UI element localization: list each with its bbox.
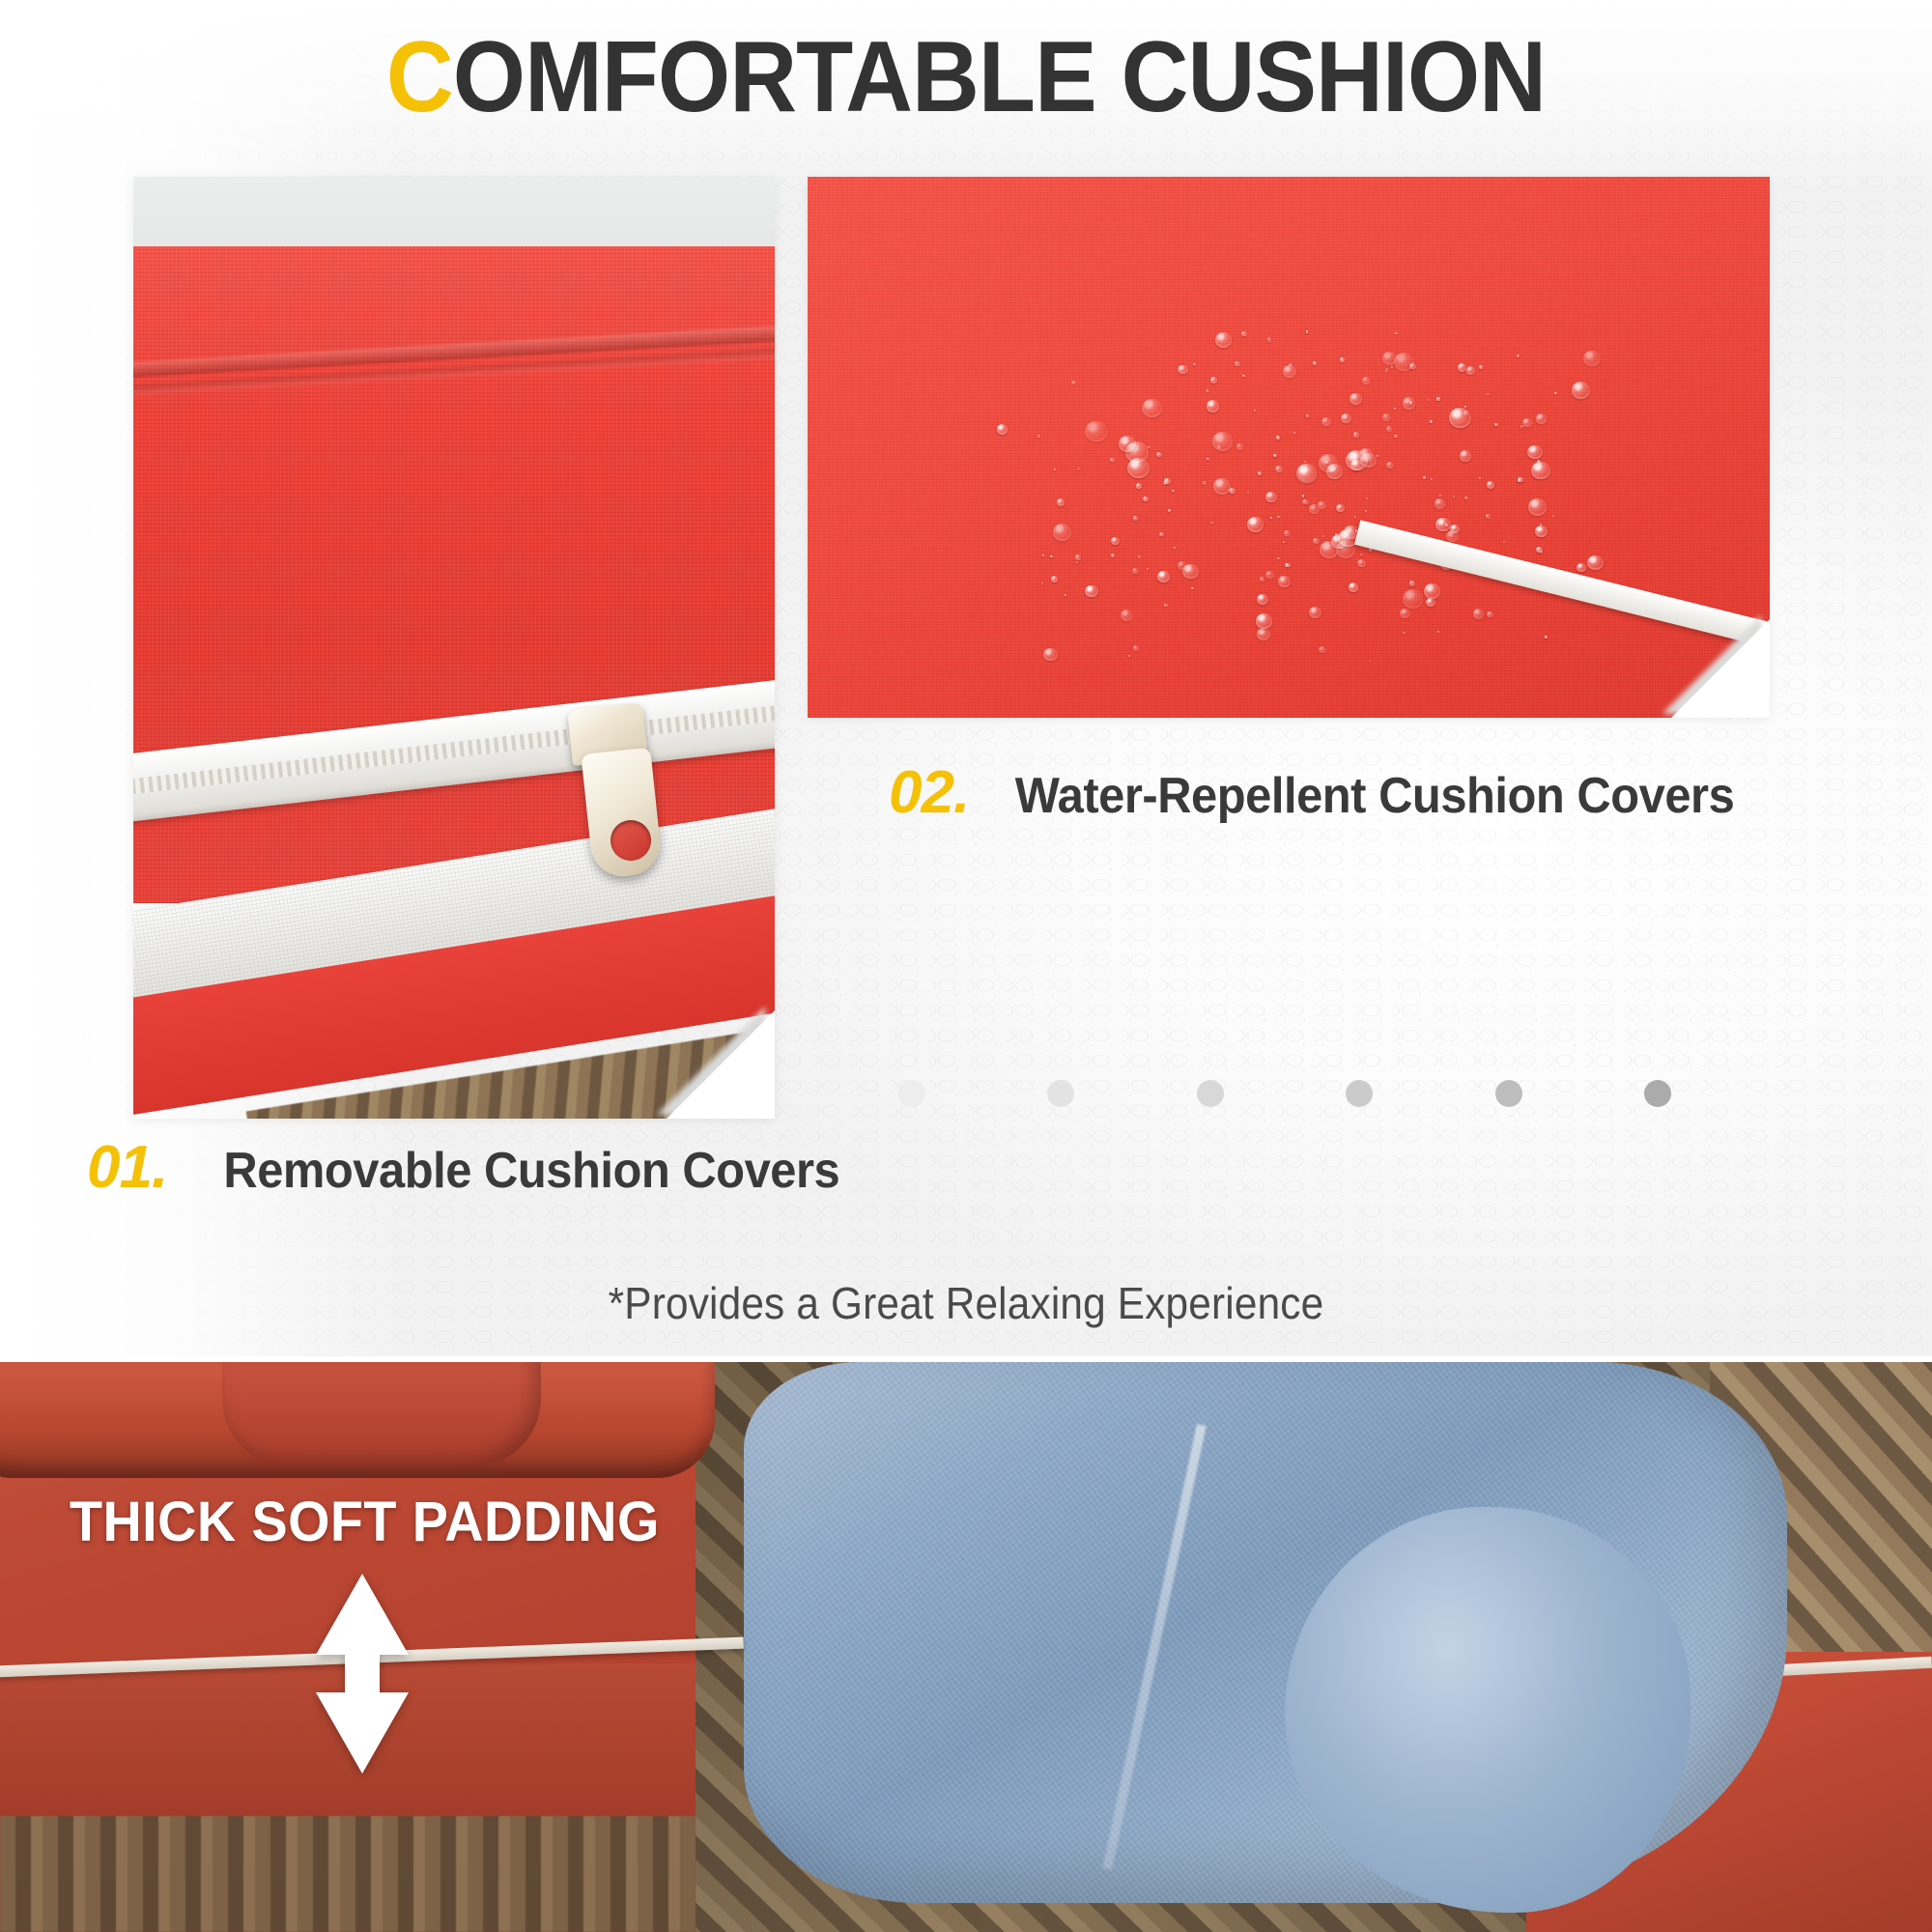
page-title-accent-letter: C <box>386 21 453 133</box>
water-droplet <box>1572 382 1590 398</box>
water-droplet <box>1276 436 1280 439</box>
water-droplet <box>1254 410 1256 412</box>
water-droplet <box>1241 331 1247 337</box>
water-droplet <box>1357 559 1366 567</box>
feature-caption-02: 02. Water-Repellent Cushion Covers <box>889 763 1757 823</box>
person-jeans <box>744 1362 1787 1903</box>
water-droplet <box>1326 464 1343 479</box>
water-droplet <box>1341 413 1350 422</box>
water-droplet <box>1386 462 1394 469</box>
water-droplet <box>1353 432 1359 437</box>
water-droplet <box>1536 547 1543 553</box>
water-droplet <box>1078 468 1080 469</box>
water-droplet <box>1257 594 1268 605</box>
water-droplet <box>1306 414 1309 417</box>
water-droplet <box>1053 524 1071 541</box>
water-droplet <box>1270 517 1272 519</box>
water-droplet <box>1247 492 1249 494</box>
water-droplet <box>1283 541 1285 543</box>
water-droplet <box>1182 564 1198 579</box>
water-droplet <box>1487 393 1490 396</box>
water-droplet <box>1394 353 1414 371</box>
water-droplet <box>1193 363 1196 366</box>
water-droplet <box>1325 461 1328 464</box>
water-droplet <box>1111 537 1120 545</box>
water-droplet <box>1428 399 1430 401</box>
progress-dot <box>898 1080 925 1107</box>
photo02-corner-curl <box>1671 619 1770 718</box>
water-droplet <box>1277 516 1279 518</box>
page-title: COMFORTABLE CUSHION <box>68 27 1864 128</box>
water-droplet <box>1479 365 1483 369</box>
water-droplet <box>1136 483 1142 489</box>
water-droplet <box>1435 518 1450 531</box>
feature-label-02: Water-Repellent Cushion Covers <box>1015 771 1735 821</box>
sofa-back-cushion-secondary <box>222 1362 541 1466</box>
progress-dot <box>1047 1080 1074 1107</box>
water-droplet <box>997 424 1009 435</box>
feature-number-01: 01. <box>87 1138 167 1198</box>
feature-image-02 <box>808 177 1770 718</box>
water-droplet <box>1394 435 1397 438</box>
water-droplet <box>1275 466 1283 472</box>
water-droplet <box>1453 496 1455 497</box>
water-droplet <box>1172 490 1175 493</box>
water-droplet <box>1362 377 1371 384</box>
progress-dot <box>1644 1080 1671 1107</box>
water-droplet <box>1554 392 1557 394</box>
feature-number-02: 02. <box>889 763 969 823</box>
water-droplet <box>1321 417 1331 426</box>
water-droplet <box>1322 535 1325 537</box>
water-droplet <box>1460 450 1472 462</box>
water-droplet <box>1423 476 1426 479</box>
water-droplet <box>1439 495 1441 497</box>
water-droplet <box>1486 515 1488 517</box>
water-droplet <box>1207 458 1208 460</box>
water-droplet <box>1365 510 1367 512</box>
water-droplet <box>1121 610 1133 621</box>
water-droplet <box>1436 397 1440 401</box>
water-droplet <box>1293 432 1295 434</box>
water-droplet <box>1278 576 1290 586</box>
water-droplet <box>1446 530 1459 542</box>
page-title-rest: OMFORTABLE CUSHION <box>453 21 1546 133</box>
water-droplet <box>1247 517 1264 532</box>
water-droplet <box>1258 471 1262 475</box>
water-droplet <box>1302 495 1305 497</box>
water-droplet <box>1503 541 1505 543</box>
water-droplet <box>1138 555 1142 558</box>
water-droplet <box>1203 481 1207 485</box>
water-droplet <box>1212 432 1234 451</box>
water-droplet <box>1065 594 1066 596</box>
water-droplet <box>1265 571 1274 579</box>
water-droplet <box>1085 421 1108 442</box>
water-droplet <box>1043 648 1058 662</box>
water-droplet <box>1319 646 1326 653</box>
water-droplet <box>1168 509 1171 512</box>
water-droplet <box>1385 370 1387 372</box>
progress-dot <box>1495 1080 1522 1107</box>
water-droplet <box>1143 497 1149 501</box>
water-droplet <box>1309 607 1321 618</box>
water-droplet <box>1235 361 1240 366</box>
water-droplet <box>1284 530 1291 536</box>
water-droplet <box>1267 337 1272 341</box>
water-droplet <box>1159 532 1164 537</box>
water-droplet <box>1479 477 1481 479</box>
water-droplet <box>1285 563 1290 568</box>
water-droplet <box>1354 516 1356 518</box>
water-droplet <box>1265 492 1277 502</box>
photo01-corner-curl <box>667 1010 775 1119</box>
double-vertical-arrow-icon <box>304 1570 420 1777</box>
water-droplet <box>1366 497 1368 499</box>
water-droplet <box>1260 577 1264 582</box>
feature-label-01: Removable Cushion Covers <box>224 1146 840 1196</box>
feature-caption-01: 01. Removable Cushion Covers <box>87 1138 860 1198</box>
water-droplet <box>1535 526 1548 537</box>
water-droplet <box>1302 499 1308 505</box>
water-droplet <box>1283 365 1296 378</box>
water-droplet <box>1257 628 1270 640</box>
water-droplet <box>1057 498 1065 505</box>
water-droplet <box>1037 435 1040 437</box>
top-content-panel: COMFORTABLE CUSHION <box>0 0 1932 1362</box>
feature-image-01 <box>133 177 775 1119</box>
water-droplet <box>1054 469 1056 470</box>
water-droplet <box>1085 585 1097 597</box>
water-droplet <box>1110 458 1115 462</box>
water-droplet <box>1346 450 1368 470</box>
water-droplet <box>1147 568 1149 570</box>
water-droplet <box>1536 413 1547 423</box>
water-droplet <box>1071 381 1076 384</box>
water-droplet <box>1583 351 1601 366</box>
water-droplet <box>1142 399 1162 417</box>
water-droplet <box>1391 366 1393 368</box>
water-droplet <box>1164 478 1171 485</box>
water-droplet <box>1577 563 1586 572</box>
water-droplet <box>1349 582 1359 592</box>
water-droplet <box>1076 561 1078 563</box>
water-droplet <box>1386 368 1388 370</box>
water-droplet <box>1522 418 1532 427</box>
water-droplet <box>1132 568 1138 574</box>
water-droplet <box>1435 498 1446 509</box>
bottom-lifestyle-panel <box>0 1362 1932 1932</box>
progress-dot <box>1197 1080 1224 1107</box>
water-droplet <box>1306 330 1309 333</box>
water-droplet <box>1041 582 1043 584</box>
water-droplet <box>1318 501 1325 509</box>
water-droplet <box>1256 613 1272 628</box>
water-droplet <box>1528 498 1548 516</box>
water-droplet <box>1178 365 1188 375</box>
water-droplet <box>1273 454 1276 457</box>
water-droplet <box>1336 504 1345 513</box>
water-droplet <box>1210 522 1213 525</box>
product-feature-poster: COMFORTABLE CUSHION <box>0 0 1932 1932</box>
water-droplet <box>1430 420 1433 423</box>
water-droplet <box>1340 357 1346 362</box>
water-droplet <box>1156 452 1162 457</box>
water-droplet <box>1520 425 1522 427</box>
water-droplet <box>1360 554 1362 555</box>
water-droplet <box>1517 355 1520 356</box>
water-droplet <box>1304 461 1307 463</box>
water-droplet <box>1587 555 1604 571</box>
progress-dots <box>898 1074 1671 1113</box>
water-droplet <box>1298 467 1314 481</box>
water-droplet <box>1111 554 1115 557</box>
water-droplet <box>1277 557 1280 559</box>
sofa-wicker-base <box>0 1816 696 1932</box>
water-droplet <box>1377 455 1378 457</box>
water-droplet <box>1313 361 1317 365</box>
water-droplet <box>1382 413 1391 421</box>
water-droplet <box>1386 426 1392 432</box>
water-droplet <box>1127 458 1150 478</box>
water-droplet <box>1207 400 1220 412</box>
water-droplet <box>1449 408 1471 428</box>
water-droplet <box>1466 366 1476 375</box>
water-droplet <box>1540 524 1542 526</box>
water-droplet <box>1157 571 1170 582</box>
water-droplet <box>1394 408 1396 410</box>
water-droplet <box>1210 377 1218 384</box>
water-droplet <box>1494 423 1497 426</box>
water-droplet <box>1174 547 1176 549</box>
water-droplet <box>1320 541 1339 558</box>
photo01-top-strip <box>133 177 775 246</box>
water-droplet <box>1207 389 1209 391</box>
water-droplet <box>1236 443 1243 450</box>
progress-dot <box>1346 1080 1373 1107</box>
water-droplet <box>1128 655 1130 657</box>
water-droplet <box>1464 497 1467 499</box>
water-droplet <box>1313 538 1320 544</box>
water-droplet <box>1133 645 1140 651</box>
water-droplet <box>1215 332 1232 348</box>
water-droplet <box>1042 554 1044 556</box>
water-droplet <box>1395 332 1397 334</box>
water-droplet <box>1164 604 1168 607</box>
water-droplet <box>1075 554 1081 560</box>
water-droplet <box>1350 393 1362 405</box>
water-droplet <box>1487 481 1494 489</box>
water-droplet <box>1191 587 1194 590</box>
water-droplet <box>1133 516 1138 521</box>
thick-soft-padding-label: THICK SOFT PADDING <box>70 1490 660 1554</box>
water-droplet <box>1531 462 1550 479</box>
water-droplet <box>1431 478 1433 480</box>
water-droplet <box>1050 555 1052 557</box>
water-droplet <box>1242 375 1244 377</box>
water-droplet <box>1148 446 1150 448</box>
water-droplet <box>1051 576 1058 582</box>
footnote-text: *Provides a Great Relaxing Experience <box>77 1277 1855 1329</box>
water-droplet <box>1552 515 1554 517</box>
water-droplet <box>1527 445 1543 460</box>
